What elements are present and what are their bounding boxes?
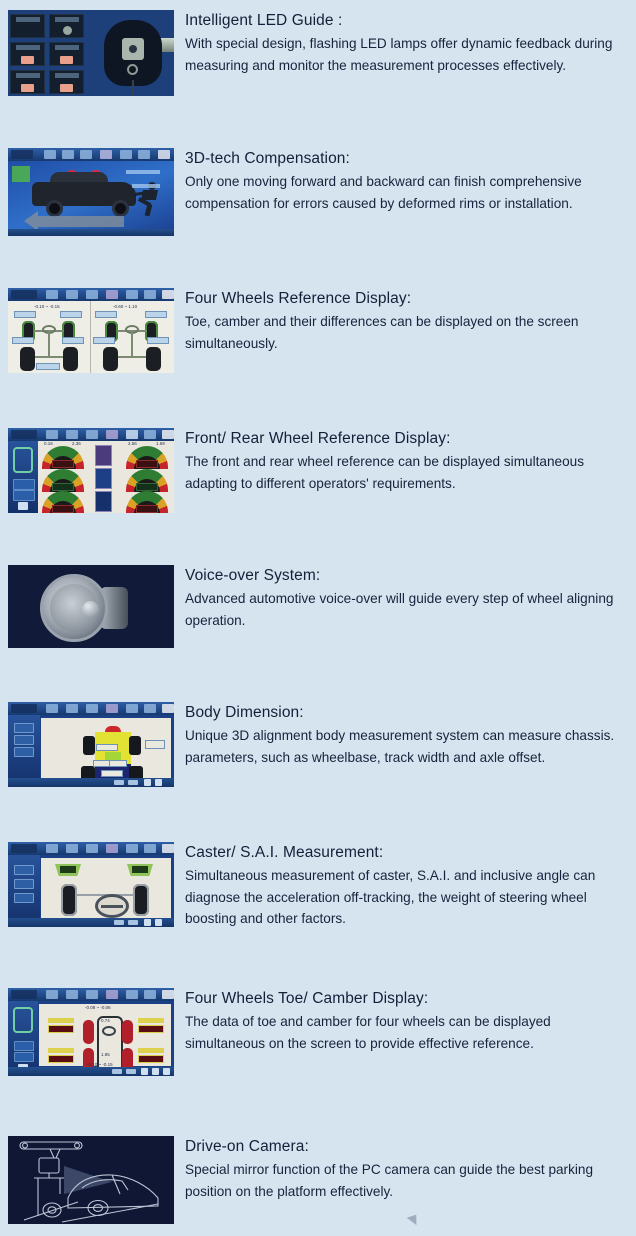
thumbnail-drive-on-camera xyxy=(8,1136,174,1224)
feature-copy: Drive-on Camera: Special mirror function… xyxy=(185,1136,636,1202)
sensor-stem xyxy=(132,80,134,96)
feature-row-body-dimension: Body Dimension: Unique 3D alignment body… xyxy=(0,702,636,787)
feature-description: The data of toe and camber for four whee… xyxy=(185,1011,628,1054)
thumb-sidebar xyxy=(8,441,38,513)
feature-title: Front/ Rear Wheel Reference Display: xyxy=(185,428,628,450)
feature-description: Special mirror function of the PC camera… xyxy=(185,1159,628,1202)
steering-wheel xyxy=(95,894,129,918)
feature-row-drive-on-camera: Drive-on Camera: Special mirror function… xyxy=(0,1136,636,1224)
feature-title: Four Wheels Toe/ Camber Display: xyxy=(185,988,628,1010)
thumbnail-voice-over-system xyxy=(8,565,174,648)
chassis-panel-left: -0.10 ~ -0.15 0.06 ~ 0.30 xyxy=(8,301,91,373)
feature-row-voice-over-system: Voice-over System: Advanced automotive v… xyxy=(0,565,636,648)
feature-description: Only one moving forward and backward can… xyxy=(185,171,628,214)
feature-copy: Body Dimension: Unique 3D alignment body… xyxy=(185,702,636,768)
feature-copy: Four Wheels Toe/ Camber Display: The dat… xyxy=(185,988,636,1054)
sensor-head xyxy=(104,20,162,86)
feature-title: 3D-tech Compensation: xyxy=(185,148,628,170)
car-wheel xyxy=(46,200,63,217)
feature-title: Four Wheels Reference Display: xyxy=(185,288,628,310)
feature-description: With special design, flashing LED lamps … xyxy=(185,33,628,76)
thumbnail-four-wheels-toe-camber-display: -0.08 ~ -0.06 0.74 1.95 -0.10 ~ -0.15 xyxy=(8,988,174,1076)
direction-arrow xyxy=(38,216,124,227)
led-panel-grid xyxy=(10,14,88,94)
thumbnail-front-rear-wheel-reference-display: 0.16 2.36 2.56 1.69 xyxy=(8,428,174,513)
feature-row-3d-tech-compensation: 3D-tech Compensation: Only one moving fo… xyxy=(0,148,636,236)
feature-row-caster-sai-measurement: Caster/ S.A.I. Measurement: Simultaneous… xyxy=(0,842,636,930)
thumbnail-caster-sai-measurement xyxy=(8,842,174,927)
feature-copy: Caster/ S.A.I. Measurement: Simultaneous… xyxy=(185,842,636,930)
chassis-panel-right: -0.60 ~ 1.10 -1.75 ~ -0.15 xyxy=(91,301,174,373)
feature-copy: Front/ Rear Wheel Reference Display: The… xyxy=(185,428,636,494)
feature-title: Drive-on Camera: xyxy=(185,1136,628,1158)
thumbnail-body-dimension xyxy=(8,702,174,787)
feature-row-four-wheels-reference-display: -0.10 ~ -0.15 0.06 ~ 0.30 -0.60 ~ 1.10 xyxy=(0,288,636,373)
feature-description: Advanced automotive voice-over will guid… xyxy=(185,588,628,631)
feature-title: Body Dimension: xyxy=(185,702,628,724)
feature-row-intelligent-led-guide: Intelligent LED Guide : With special des… xyxy=(0,10,636,96)
feature-title: Intelligent LED Guide : xyxy=(185,10,628,32)
thumb-toolbar xyxy=(8,148,174,161)
car-wheel xyxy=(112,200,129,217)
speaker-dome xyxy=(82,601,99,618)
status-tile xyxy=(12,166,30,182)
feature-copy: Voice-over System: Advanced automotive v… xyxy=(185,565,636,631)
feature-description: Unique 3D alignment body measurement sys… xyxy=(185,725,628,768)
feature-title: Caster/ S.A.I. Measurement: xyxy=(185,842,628,864)
feature-title: Voice-over System: xyxy=(185,565,628,587)
thumbnail-3d-tech-compensation xyxy=(8,148,174,236)
thumbnail-intelligent-led-guide xyxy=(8,10,174,96)
feature-row-front-rear-wheel-reference-display: 0.16 2.36 2.56 1.69 Front/ Rear Wheel Re… xyxy=(0,428,636,513)
feature-list-page: Intelligent LED Guide : With special des… xyxy=(0,0,636,1236)
sensor-arm xyxy=(160,38,174,52)
feature-copy: Intelligent LED Guide : With special des… xyxy=(185,10,636,76)
thumbnail-four-wheels-reference-display: -0.10 ~ -0.15 0.06 ~ 0.30 -0.60 ~ 1.10 xyxy=(8,288,174,373)
feature-copy: 3D-tech Compensation: Only one moving fo… xyxy=(185,148,636,214)
feature-row-four-wheels-toe-camber-display: -0.08 ~ -0.06 0.74 1.95 -0.10 ~ -0.15 xyxy=(0,988,636,1076)
feature-description: Toe, camber and their differences can be… xyxy=(185,311,628,354)
feature-description: Simultaneous measurement of caster, S.A.… xyxy=(185,865,628,930)
feature-copy: Four Wheels Reference Display: Toe, camb… xyxy=(185,288,636,354)
feature-description: The front and rear wheel reference can b… xyxy=(185,451,628,494)
drive-on-camera-wireframe xyxy=(8,1136,174,1224)
